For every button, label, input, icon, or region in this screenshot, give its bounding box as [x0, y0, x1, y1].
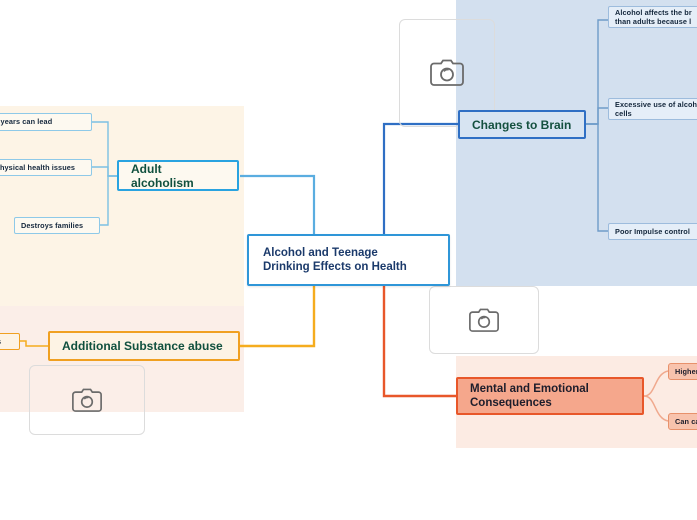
subtopic-node[interactable]: Can ca [668, 413, 697, 430]
subtopic-node[interactable]: Higher [668, 363, 697, 380]
branch-label-mental-emotional-consequences: Mental and Emotional Consequences [470, 382, 589, 410]
subtopic-node[interactable]: Alcohol affects the br than adults becau… [608, 6, 697, 28]
camera-icon [430, 59, 464, 87]
subtopic-node[interactable]: Destroys families [14, 217, 100, 234]
branch-node-changes-to-brain[interactable]: Changes to Brain [458, 110, 586, 139]
subtopic-label: Can ca [675, 417, 697, 426]
subtopic-label: rugs [0, 337, 1, 346]
mindmap-canvas[interactable]: Alcohol and Teenage Drinking Effects on … [0, 0, 697, 520]
branch-node-additional-substance-abuse[interactable]: Additional Substance abuse [48, 331, 240, 361]
subtopic-label: Physical health issues [0, 163, 75, 172]
subtopic-label: Higher [675, 367, 697, 376]
subtopic-label: Poor Impulse control [615, 227, 690, 236]
image-placeholder-middle[interactable] [429, 286, 539, 354]
central-topic-label: Alcohol and Teenage Drinking Effects on … [263, 246, 407, 274]
branch-label-adult-alcoholism: Adult alcoholism [131, 162, 225, 190]
branch-node-adult-alcoholism[interactable]: Adult alcoholism [117, 160, 239, 191]
subtopic-label: nage years can lead [0, 117, 52, 126]
subtopic-label: Alcohol affects the br than adults becau… [615, 8, 692, 26]
branch-node-mental-emotional-consequences[interactable]: Mental and Emotional Consequences [456, 377, 644, 415]
image-placeholder-bottom-left[interactable] [29, 365, 145, 435]
camera-icon [469, 308, 499, 333]
subtopic-node[interactable]: Excessive use of alcoh cells [608, 98, 697, 120]
subtopic-node[interactable]: Poor Impulse control [608, 223, 697, 240]
central-topic-node[interactable]: Alcohol and Teenage Drinking Effects on … [247, 234, 450, 286]
camera-icon [72, 388, 102, 413]
subtopic-node[interactable]: nage years can lead [0, 113, 92, 131]
subtopic-node[interactable]: Physical health issues [0, 159, 92, 176]
branch-label-changes-to-brain: Changes to Brain [472, 118, 571, 132]
subtopic-node[interactable]: rugs [0, 333, 20, 350]
subtopic-label: Destroys families [21, 221, 83, 230]
subtopic-label: Excessive use of alcoh cells [615, 100, 697, 118]
branch-label-additional-substance-abuse: Additional Substance abuse [62, 339, 223, 353]
